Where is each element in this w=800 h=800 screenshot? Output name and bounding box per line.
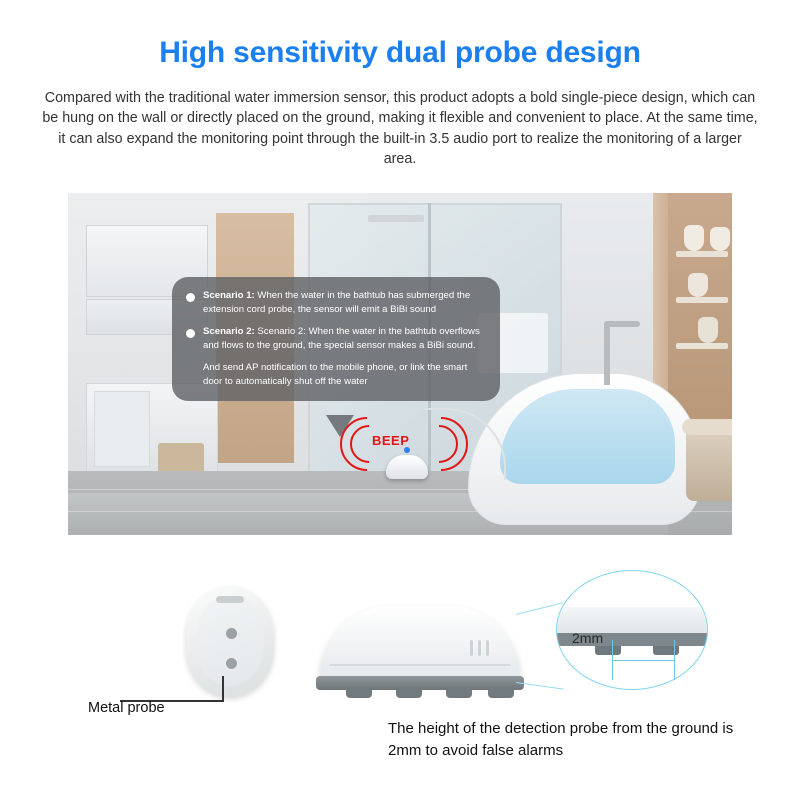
vase-2 (710, 227, 730, 251)
probe-bottom-inner (196, 596, 264, 686)
zoom-connector-top (516, 602, 563, 615)
shelf-3 (676, 343, 728, 349)
scenario-1-row: Scenario 1: When the water in the bathtu… (186, 289, 486, 317)
scenario-callout: Scenario 1: When the water in the bathtu… (172, 277, 500, 401)
callout-tail (326, 415, 354, 437)
device-foot-4 (488, 689, 514, 698)
device-foot-1 (346, 689, 372, 698)
device-foot-2 (396, 689, 422, 698)
vase-4 (698, 317, 718, 343)
stool-top (682, 419, 732, 435)
metal-probe-pin-1 (224, 626, 239, 641)
faucet-spout (604, 321, 640, 327)
wooden-stool (686, 425, 732, 501)
page-title: High sensitivity dual probe design (0, 36, 800, 70)
scenario-2-text: Scenario 2: Scenario 2: When the water i… (203, 325, 486, 353)
vase-1 (684, 225, 704, 251)
scenario-1-text: Scenario 1: When the water in the bathtu… (203, 289, 486, 317)
bottom-caption: The height of the detection probe from t… (388, 718, 760, 762)
scenario-2-label: Scenario 2: (203, 326, 255, 337)
bathroom-photo: BEEP Scenario 1: When the water in the b… (68, 193, 732, 535)
water-sensor-device (386, 455, 428, 479)
zoom-foot-1 (595, 646, 621, 655)
device-foot-3 (446, 689, 472, 698)
faucet-stem (604, 323, 610, 385)
probe-slot (216, 596, 244, 603)
measure-label: 2mm (572, 630, 603, 646)
metal-probe-leader-vertical (222, 676, 224, 702)
callout-footer-text: And send AP notification to the mobile p… (186, 361, 486, 389)
device-vent-2 (478, 640, 481, 656)
cabinet-door (94, 391, 150, 467)
device-seam (330, 664, 510, 666)
metal-probe-pin-2 (224, 656, 239, 671)
device-vent-3 (486, 640, 489, 656)
measure-line-right (674, 640, 675, 680)
measure-span (612, 660, 674, 661)
metal-probe-label: Metal probe (88, 700, 165, 716)
shelf-2 (676, 297, 728, 303)
shelf-1 (676, 251, 728, 257)
device-side-view (320, 606, 520, 684)
vase-3 (688, 273, 708, 297)
scenario-2-row: Scenario 2: Scenario 2: When the water i… (186, 325, 486, 353)
scenario-1-label: Scenario 1: (203, 290, 255, 301)
device-base (316, 676, 524, 690)
bullet-dot-icon (186, 293, 195, 302)
bullet-dot-icon (186, 329, 195, 338)
shower-head (368, 215, 424, 222)
device-vent-1 (470, 640, 473, 656)
page-subtitle: Compared with the traditional water imme… (40, 88, 760, 169)
beep-label: BEEP (372, 433, 409, 448)
